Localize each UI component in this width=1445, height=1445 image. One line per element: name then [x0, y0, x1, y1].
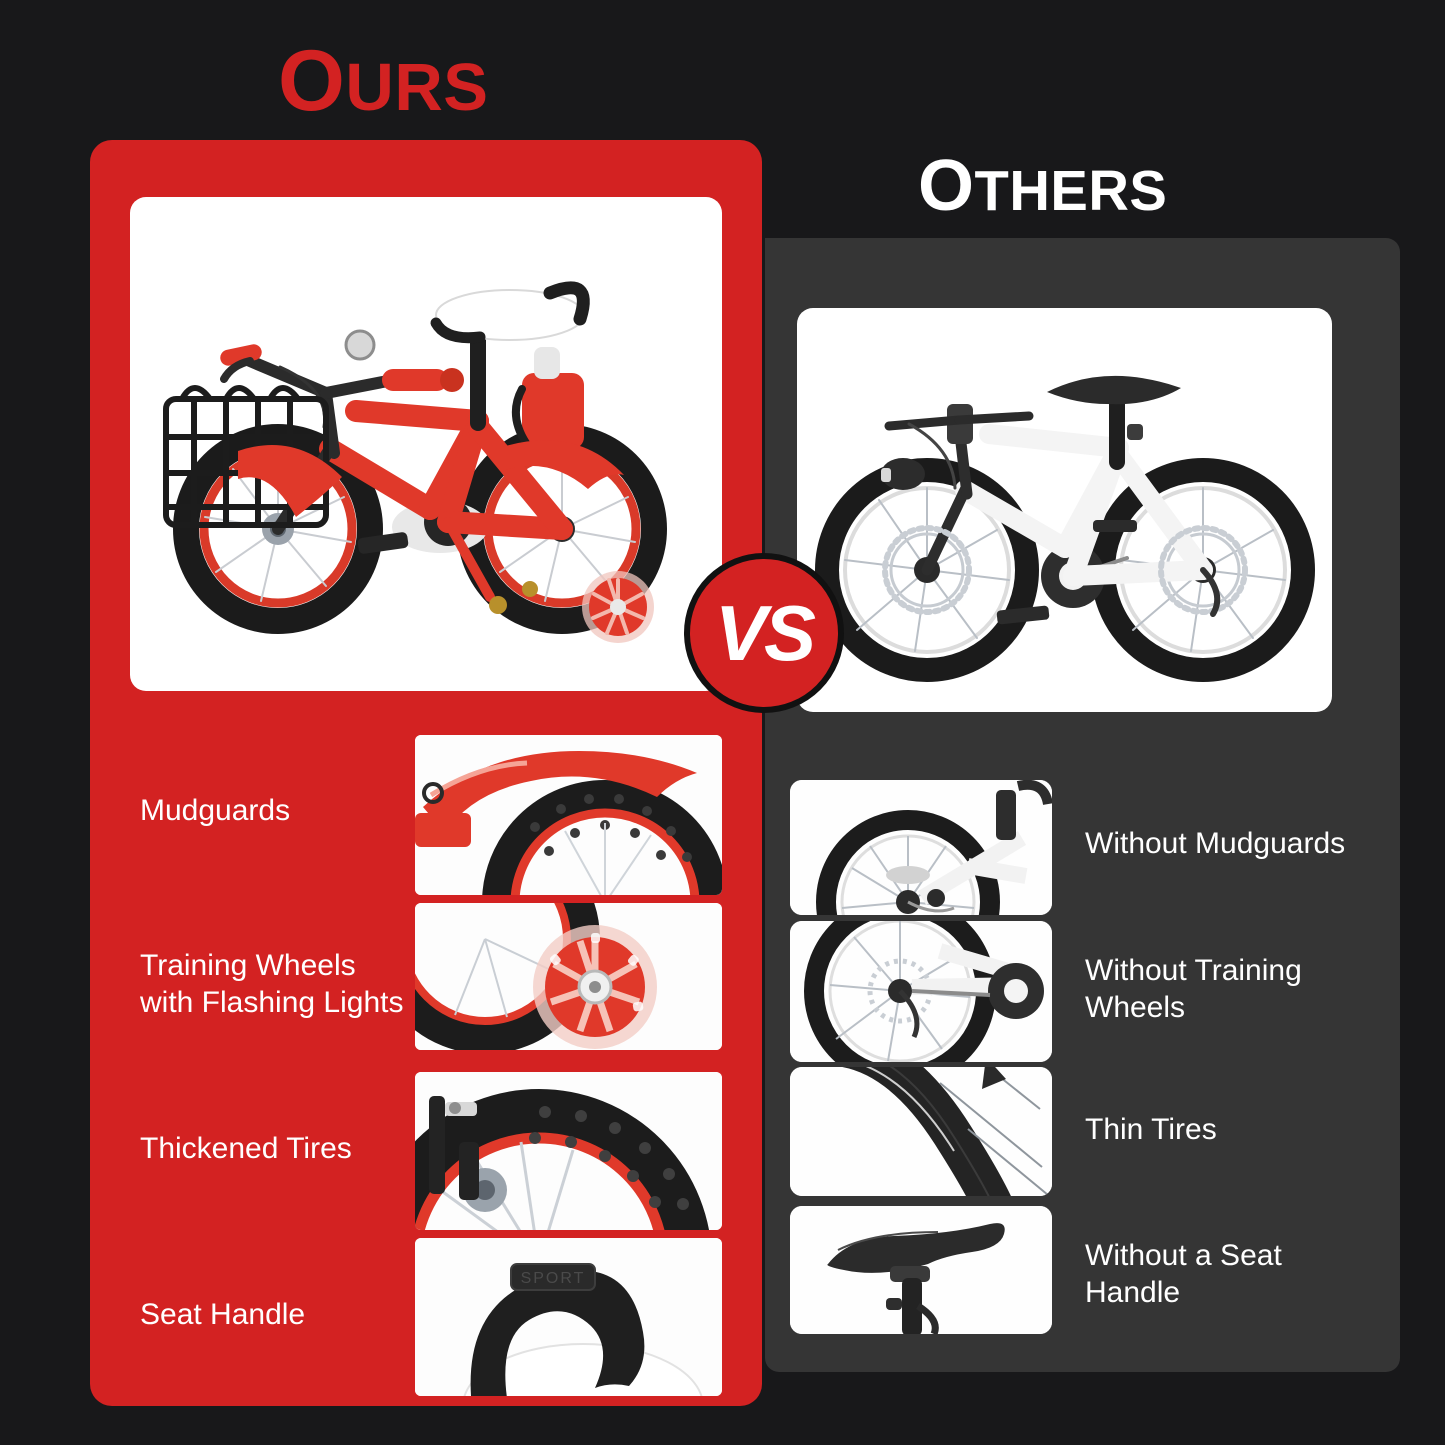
vs-badge: VS [684, 553, 844, 713]
others-feature-label-3: Without a Seat Handle [1085, 1238, 1385, 1311]
others-feature-label-0: Without Mudguards [1085, 826, 1385, 863]
svg-text:SPORT: SPORT [521, 1270, 586, 1287]
thin-tire-closeup-illustration [790, 1067, 1052, 1196]
others-title-cap: O [918, 146, 975, 226]
others-feature-image-no-training-wheels [790, 921, 1052, 1062]
no-mudguard-closeup-illustration [790, 780, 1052, 915]
white-mountain-bicycle-illustration [797, 308, 1332, 712]
ours-feature-label-0: Mudguards [140, 793, 410, 830]
others-feature-image-thin-tires [790, 1067, 1052, 1196]
no-training-wheels-closeup-illustration [790, 921, 1052, 1062]
red-kids-bicycle-illustration [130, 197, 722, 691]
others-title-rest: THERS [975, 159, 1168, 222]
seat-handle-closeup-illustration: SPORT [415, 1238, 722, 1396]
ours-feature-label-1: Training Wheels with Flashing Lights [140, 948, 410, 1021]
ours-feature-image-seat-handle: SPORT [415, 1238, 722, 1396]
ours-feature-image-thickened-tires [415, 1072, 722, 1230]
comparison-infographic: OURS OTHERS [0, 0, 1445, 1445]
mudguard-closeup-illustration [415, 735, 722, 895]
ours-feature-image-mudguards [415, 735, 722, 895]
thick-tire-closeup-illustration [415, 1072, 722, 1230]
ours-feature-label-2: Thickened Tires [140, 1131, 410, 1168]
ours-title-cap: O [278, 33, 345, 129]
training-wheel-closeup-illustration [415, 903, 722, 1050]
vs-badge-label: VS [690, 559, 838, 707]
others-hero-card [797, 308, 1332, 712]
plain-saddle-closeup-illustration [790, 1206, 1052, 1334]
ours-feature-label-3: Seat Handle [140, 1297, 410, 1334]
others-title: OTHERS [918, 150, 1167, 222]
others-feature-label-2: Thin Tires [1085, 1112, 1385, 1149]
others-feature-label-1: Without Training Wheels [1085, 953, 1385, 1026]
others-feature-image-no-mudguards [790, 780, 1052, 915]
ours-title-rest: URS [345, 50, 488, 125]
others-feature-image-no-seat-handle [790, 1206, 1052, 1334]
ours-hero-card [130, 197, 722, 691]
ours-feature-image-training-wheels [415, 903, 722, 1050]
ours-title: OURS [278, 38, 489, 124]
